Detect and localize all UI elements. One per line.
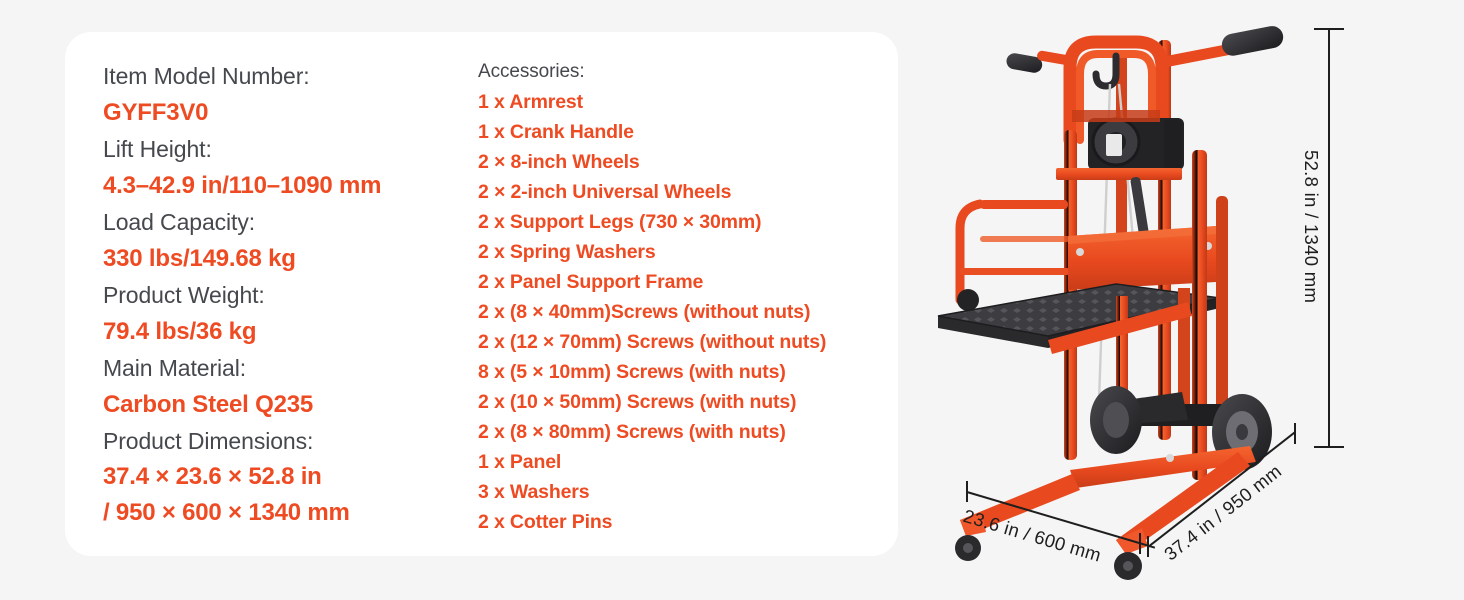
spec-label-product-weight: Product Weight: [103,277,483,313]
accessory-item: 8 x (5 × 10mm) Screws (with nuts) [478,357,898,387]
accessory-item: 1 x Crank Handle [478,117,898,147]
spec-columns: Item Model Number: GYFF3V0 Lift Height: … [65,32,898,556]
spec-value-product-dimensions-mm: / 950 × 600 × 1340 mm [103,495,483,531]
depth-dimension-cap-right [1294,423,1296,444]
accessory-item: 2 x Spring Washers [478,237,898,267]
accessory-item: 2 × 2-inch Universal Wheels [478,177,898,207]
height-dimension-cap-bottom [1314,446,1344,448]
spec-value-product-dimensions-inches: 37.4 × 23.6 × 52.8 in [103,459,483,495]
accessory-item: 2 x Cotter Pins [478,507,898,537]
width-dimension-cap-right [1139,533,1141,554]
accessory-item: 2 x (8 × 40mm)Screws (without nuts) [478,297,898,327]
height-dimension-line [1328,28,1330,448]
spec-label-lift-height: Lift Height: [103,131,483,167]
spec-value-main-material: Carbon Steel Q235 [103,386,483,423]
accessory-item: 2 x (10 × 50mm) Screws (with nuts) [478,387,898,417]
spec-value-model: GYFF3V0 [103,94,483,131]
accessory-item: 1 x Armrest [478,87,898,117]
accessories-title: Accessories: [478,56,898,87]
spec-label-product-dimensions: Product Dimensions: [103,423,483,459]
accessory-item: 2 x Support Legs (730 × 30mm) [478,207,898,237]
spec-value-product-weight: 79.4 lbs/36 kg [103,313,483,350]
height-dimension-label: 52.8 in / 1340 mm [1300,150,1322,303]
spec-label-main-material: Main Material: [103,350,483,386]
accessory-item: 2 x (12 × 70mm) Screws (without nuts) [478,327,898,357]
accessory-item: 2 × 8-inch Wheels [478,147,898,177]
spec-value-lift-height: 4.3–42.9 in/110–1090 mm [103,167,483,204]
accessory-item: 2 x (8 × 80mm) Screws (with nuts) [478,417,898,447]
product-lift-illustration [920,0,1340,580]
spec-value-load-capacity: 330 lbs/149.68 kg [103,240,483,277]
spec-list: Item Model Number: GYFF3V0 Lift Height: … [103,58,483,531]
accessory-item: 3 x Washers [478,477,898,507]
spec-label-model: Item Model Number: [103,58,483,94]
accessory-item: 2 x Panel Support Frame [478,267,898,297]
accessory-item: 1 x Panel [478,447,898,477]
spec-label-load-capacity: Load Capacity: [103,204,483,240]
specification-card: Item Model Number: GYFF3V0 Lift Height: … [65,32,898,556]
accessories-list: Accessories: 1 x Armrest 1 x Crank Handl… [478,56,898,537]
